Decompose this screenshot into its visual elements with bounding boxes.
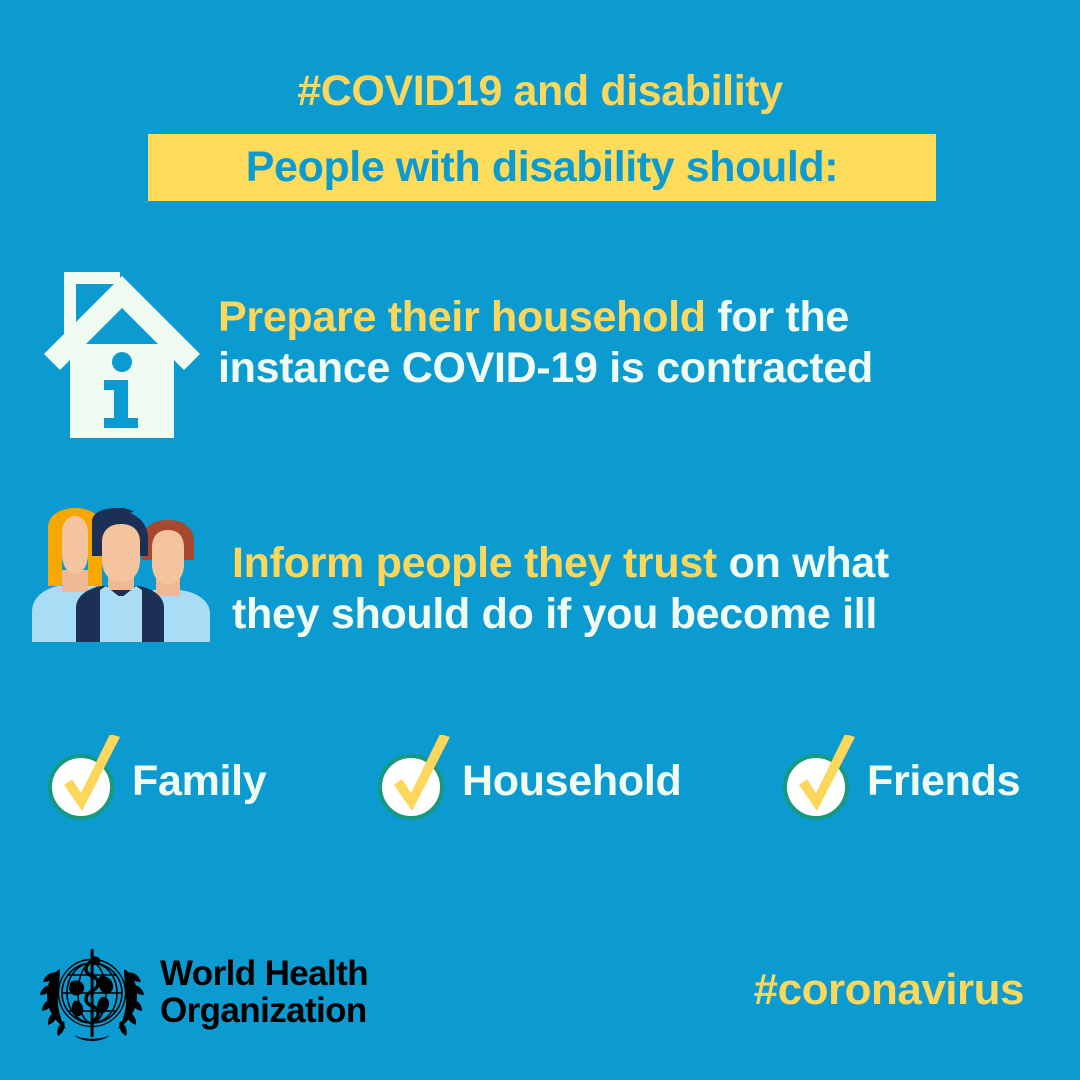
message-inform-highlight: Inform people they trust: [232, 539, 717, 587]
hashtag-coronavirus: #coronavirus: [754, 968, 1024, 1012]
checklist: Family Household Friends: [0, 735, 1080, 835]
who-wordmark-line1: World Health: [160, 956, 368, 993]
poster-canvas: #COVID19 and disability People with disa…: [0, 0, 1080, 1080]
who-emblem-icon: [36, 943, 148, 1043]
page-title: #COVID19 and disability: [0, 70, 1080, 113]
who-wordmark: World Health Organization: [160, 956, 368, 1030]
list-item-label: Friends: [867, 760, 1020, 803]
list-item-label: Household: [462, 760, 681, 803]
subtitle-band: People with disability should:: [148, 134, 936, 201]
list-item: Household: [378, 735, 681, 827]
who-wordmark-line2: Organization: [160, 993, 368, 1030]
house-info-icon: [42, 258, 202, 440]
list-item: Friends: [783, 735, 1020, 827]
check-circle-icon: [48, 735, 126, 827]
message-household-highlight: Prepare their household: [218, 293, 706, 341]
message-inform-text: Inform people they trust on what they sh…: [232, 538, 972, 639]
check-circle-icon: [783, 735, 861, 827]
who-logo: World Health Organization: [36, 940, 376, 1045]
check-circle-icon: [378, 735, 456, 827]
message-household-text: Prepare their household for the instance…: [218, 292, 948, 393]
list-item: Family: [48, 735, 266, 827]
subtitle-text: People with disability should:: [246, 146, 838, 189]
list-item-label: Family: [132, 760, 266, 803]
three-people-icon: [18, 508, 223, 642]
